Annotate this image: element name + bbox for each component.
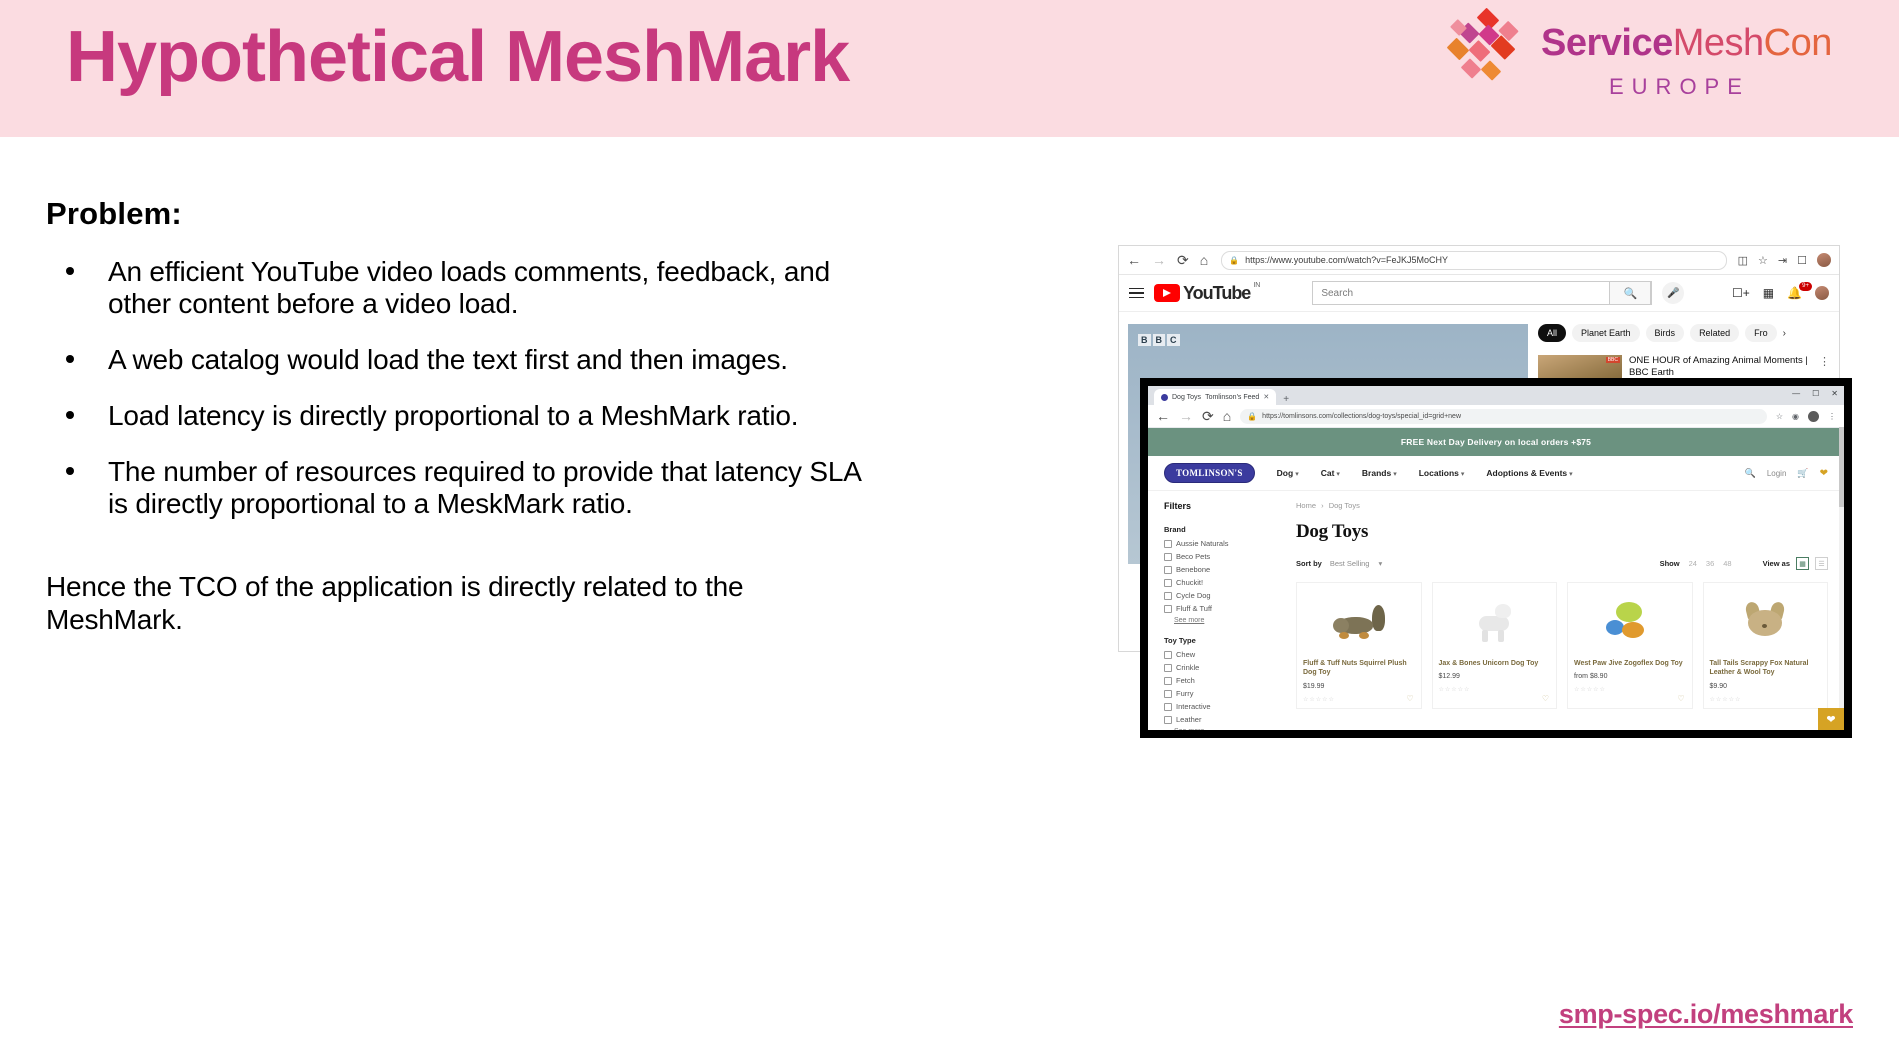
close-icon[interactable]: ✕ [1263, 393, 1269, 401]
bookmark-star-icon[interactable]: ☆ [1776, 412, 1783, 421]
list-item: Load latency is directly proportional to… [46, 400, 876, 432]
checkbox[interactable] [1164, 605, 1172, 613]
tomlinsons-browser-chrome: ← → ⟳ ⌂ 🔒 https://tomlinsons.com/collect… [1148, 405, 1844, 428]
tomlinsons-logo[interactable]: TOMLINSON'S [1164, 463, 1255, 483]
bbc-watermark-icon: B B C [1138, 334, 1180, 346]
floating-wishlist-button[interactable]: ❤ [1818, 708, 1844, 730]
product-card[interactable]: Jax & Bones Unicorn Dog Toy $12.99 ☆☆☆☆☆… [1432, 582, 1558, 709]
product-price: $9.90 [1710, 683, 1822, 690]
servicemeshcon-wordmark: ServiceMeshCon [1541, 22, 1832, 65]
show-label: Show [1660, 559, 1680, 568]
bullet-dot-icon [66, 411, 74, 419]
checkbox[interactable] [1164, 703, 1172, 711]
show-option-36[interactable]: 36 [1706, 559, 1714, 568]
favorite-icon[interactable]: ☆ [1758, 254, 1768, 267]
youtube-account-actions: ☐+ ▦ 🔔 9+ [1732, 286, 1829, 300]
product-image [1710, 589, 1822, 655]
search-icon[interactable]: 🔍 [1745, 468, 1756, 479]
cart-icon[interactable]: 🛒 [1797, 468, 1808, 479]
page-title: Hypothetical MeshMark [66, 18, 849, 97]
rating-stars-icon[interactable]: ☆☆☆☆☆ [1439, 686, 1551, 693]
youtube-chrome-toolbar: ◫ ☆ ⇥ ☐ [1738, 253, 1831, 267]
watermark-letter: C [1167, 334, 1180, 346]
checkbox[interactable] [1164, 579, 1172, 587]
search-icon[interactable]: 🔍 [1609, 281, 1651, 305]
youtube-address-bar[interactable]: 🔒 https://www.youtube.com/watch?v=FeJKJ5… [1221, 251, 1726, 270]
chevron-down-icon: ▾ [1295, 471, 1299, 478]
squirrel-plush-icon [1333, 605, 1385, 639]
product-image [1439, 589, 1551, 655]
lock-icon: 🔒 [1247, 412, 1257, 421]
scrollbar-thumb[interactable] [1839, 427, 1844, 507]
bullet-text: The number of resources required to prov… [108, 456, 860, 519]
youtube-logo[interactable]: YouTube IN [1154, 284, 1260, 302]
bullet-dot-icon [66, 267, 74, 275]
notification-count-badge: 9+ [1799, 282, 1812, 291]
product-image [1303, 589, 1415, 655]
checkbox[interactable] [1164, 690, 1172, 698]
see-more-brand-link[interactable]: See more [1174, 617, 1274, 624]
login-link[interactable]: Login [1767, 469, 1787, 478]
hamburger-menu-icon[interactable] [1129, 285, 1144, 302]
new-tab-icon[interactable]: + [1283, 394, 1289, 405]
youtube-region-tag: IN [1253, 282, 1260, 289]
product-price: $12.99 [1439, 673, 1551, 680]
wishlist-heart-icon[interactable]: ♡ [1542, 694, 1549, 703]
bullet-text: A web catalog would load the text first … [108, 344, 788, 375]
reload-icon[interactable]: ⟳ [1202, 409, 1214, 423]
breadcrumb-separator: › [1321, 501, 1324, 510]
catalog-page-title: Dog Toys [1296, 521, 1828, 543]
list-item: A web catalog would load the text first … [46, 344, 876, 376]
breadcrumb-home[interactable]: Home [1296, 501, 1316, 510]
youtube-avatar[interactable] [1815, 286, 1829, 300]
catalog-toolbar: Sort by Best Selling ▾ Show 24 36 48 Vie… [1296, 557, 1828, 570]
product-price: $19.99 [1303, 683, 1415, 690]
servicemeshcon-logo-mark [1451, 14, 1531, 94]
breadcrumb-current: Dog Toys [1329, 501, 1360, 510]
catalog-content: Home › Dog Toys Dog Toys Sort by Best Se… [1296, 501, 1828, 730]
problem-heading: Problem: [46, 196, 876, 232]
product-card[interactable]: Tall Tails Scrappy Fox Natural Leather &… [1703, 582, 1829, 709]
browser-tab-strip: Dog Toys Tomlinson's Feed ✕ + — ☐ ✕ [1148, 386, 1844, 405]
tomlinsons-viewport: Dog Toys Tomlinson's Feed ✕ + — ☐ ✕ ← → … [1148, 386, 1844, 730]
filter-label: Leather [1176, 715, 1201, 724]
filters-title: Filters [1164, 501, 1274, 511]
rating-stars-icon[interactable]: ☆☆☆☆☆ [1303, 696, 1415, 703]
filter-option[interactable]: Beco Pets [1164, 552, 1274, 561]
chip-all[interactable]: All [1538, 324, 1566, 342]
problem-bullet-list: An efficient YouTube video loads comment… [46, 256, 876, 519]
back-icon[interactable]: ← [1127, 253, 1141, 267]
logo-text-mesh: Mesh [1673, 22, 1764, 64]
nav-label: Dog [1277, 468, 1294, 478]
maximize-icon[interactable]: ☐ [1812, 389, 1819, 398]
filter-chip-row: All Planet Earth Birds Related Fro › [1538, 324, 1830, 342]
fox-plush-icon [1744, 602, 1786, 642]
product-name[interactable]: Tall Tails Scrappy Fox Natural Leather &… [1710, 659, 1822, 678]
thumbnail-tag: BBC [1606, 357, 1620, 363]
tab-title: Dog Toys [1172, 394, 1201, 401]
extension-icon[interactable]: ◉ [1792, 412, 1799, 421]
chevron-down-icon: ▾ [1569, 471, 1573, 478]
list-item: The number of resources required to prov… [46, 456, 876, 520]
wishlist-heart-icon[interactable]: ♡ [1406, 694, 1413, 703]
filter-label: Fluff & Tuff [1176, 604, 1212, 613]
minimize-icon[interactable]: — [1792, 389, 1800, 398]
home-icon[interactable]: ⌂ [1200, 253, 1208, 267]
youtube-wordmark: YouTube [1183, 284, 1250, 302]
chevron-down-icon: ▾ [1461, 471, 1465, 478]
bullet-dot-icon [66, 355, 74, 363]
checkbox[interactable] [1164, 677, 1172, 685]
chip-planet-earth[interactable]: Planet Earth [1572, 324, 1640, 342]
sort-by-label: Sort by [1296, 559, 1322, 568]
youtube-search-input[interactable]: Search 🔍 [1312, 281, 1652, 305]
nav-label: Cat [1321, 468, 1335, 478]
view-as-label: View as [1763, 559, 1790, 568]
product-image [1574, 589, 1686, 655]
apps-grid-icon[interactable]: ▦ [1763, 286, 1774, 300]
filter-option[interactable]: Crinkle [1164, 663, 1274, 672]
chip-related[interactable]: Related [1690, 324, 1739, 342]
chevron-down-icon[interactable]: ▾ [1378, 559, 1382, 568]
site-navigation: TOMLINSON'S Dog▾ Cat▾ Brands▾ Locations▾… [1148, 456, 1844, 491]
chevron-down-icon: ▾ [1393, 471, 1397, 478]
screenshot-composite: ← → ⟳ ⌂ 🔒 https://www.youtube.com/watch?… [1118, 245, 1858, 725]
nav-label: Adoptions & Events [1486, 468, 1567, 478]
window-controls: — ☐ ✕ [1792, 389, 1838, 398]
checkbox[interactable] [1164, 553, 1172, 561]
youtube-browser-chrome: ← → ⟳ ⌂ 🔒 https://www.youtube.com/watch?… [1119, 246, 1839, 275]
product-name[interactable]: Jax & Bones Unicorn Dog Toy [1439, 659, 1551, 668]
catalog-main: Filters Brand Aussie Naturals Beco Pets … [1148, 491, 1844, 730]
filter-option[interactable]: Cycle Dog [1164, 591, 1274, 600]
filter-label: Fetch [1176, 676, 1195, 685]
split-screen-icon[interactable]: ◫ [1738, 254, 1748, 267]
filter-label: Beco Pets [1176, 552, 1210, 561]
logo-text-service: Service [1541, 22, 1673, 64]
show-option-48[interactable]: 48 [1723, 559, 1731, 568]
product-grid: Fluff & Tuff Nuts Squirrel Plush Dog Toy… [1296, 582, 1828, 709]
nav-item-cat[interactable]: Cat▾ [1321, 468, 1340, 478]
browser-essentials-icon[interactable]: ☐ [1797, 254, 1807, 267]
forward-icon[interactable]: → [1179, 409, 1193, 423]
wishlist-heart-icon[interactable]: ♡ [1677, 694, 1684, 703]
search-placeholder: Search [1321, 288, 1353, 299]
nav-item-adoptions-events[interactable]: Adoptions & Events▾ [1486, 468, 1572, 478]
nav-label: Brands [1362, 468, 1391, 478]
filter-label: Cycle Dog [1176, 591, 1211, 600]
browser-tab[interactable]: Dog Toys Tomlinson's Feed ✕ [1154, 389, 1276, 405]
bullet-text: Load latency is directly proportional to… [108, 400, 798, 431]
profile-avatar[interactable] [1808, 411, 1819, 422]
nav-item-locations[interactable]: Locations▾ [1419, 468, 1465, 478]
filter-label: Chew [1176, 650, 1195, 659]
product-price: from $8.90 [1574, 673, 1686, 680]
lock-icon: 🔒 [1229, 256, 1239, 265]
collections-icon[interactable]: ⇥ [1778, 254, 1787, 267]
nav-item-dog[interactable]: Dog▾ [1277, 468, 1299, 478]
slide-body: Problem: An efficient YouTube video load… [46, 196, 876, 636]
filters-sidebar: Filters Brand Aussie Naturals Beco Pets … [1164, 501, 1274, 730]
reload-icon[interactable]: ⟳ [1177, 253, 1189, 267]
closing-paragraph: Hence the TCO of the application is dire… [46, 571, 806, 635]
nav-label: Locations [1419, 468, 1459, 478]
youtube-play-icon [1154, 284, 1180, 302]
tab-subtitle: Tomlinson's Feed [1205, 394, 1259, 401]
favicon-icon [1161, 394, 1168, 401]
wishlist-heart-icon[interactable]: ❤ [1820, 468, 1828, 479]
filter-label: Chuckit! [1176, 578, 1203, 587]
filter-option[interactable]: Leather [1164, 715, 1274, 724]
bullet-text: An efficient YouTube video loads comment… [108, 256, 830, 319]
chip-birds[interactable]: Birds [1646, 324, 1685, 342]
rating-stars-icon[interactable]: ☆☆☆☆☆ [1710, 696, 1822, 703]
checkbox[interactable] [1164, 651, 1172, 659]
filter-label: Aussie Naturals [1176, 539, 1229, 548]
view-as-group: View as ▦ ☰ [1763, 557, 1828, 570]
filter-group-title-brand: Brand [1164, 525, 1274, 534]
bullet-dot-icon [66, 467, 74, 475]
show-count-group: Show 24 36 48 View as ▦ ☰ [1660, 557, 1828, 570]
meshmark-spec-link[interactable]: smp-spec.io/meshmark [1559, 999, 1853, 1030]
video-title[interactable]: ONE HOUR of Amazing Animal Moments | BBC… [1629, 355, 1808, 380]
chrome-menu-icon[interactable]: ⋮ [1828, 412, 1836, 421]
nav-actions: 🔍 Login 🛒 ❤ [1745, 468, 1828, 479]
watermark-letter: B [1153, 334, 1166, 346]
logo-text-con: Con [1764, 22, 1832, 64]
rating-stars-icon[interactable]: ☆☆☆☆☆ [1574, 686, 1686, 693]
filter-option[interactable]: Chuckit! [1164, 578, 1274, 587]
list-item: An efficient YouTube video loads comment… [46, 256, 876, 320]
watermark-letter: B [1138, 334, 1151, 346]
filter-option[interactable]: Interactive [1164, 702, 1274, 711]
create-video-icon[interactable]: ☐+ [1732, 286, 1750, 300]
forward-icon[interactable]: → [1152, 253, 1166, 267]
list-view-icon[interactable]: ☰ [1815, 557, 1828, 570]
filter-label: Furry [1176, 689, 1194, 698]
filter-option[interactable]: Fluff & Tuff [1164, 604, 1274, 613]
nav-item-brands[interactable]: Brands▾ [1362, 468, 1397, 478]
checkbox[interactable] [1164, 664, 1172, 672]
filter-option[interactable]: Benebone [1164, 565, 1274, 574]
unicorn-plush-icon [1471, 602, 1517, 642]
tomlinsons-url-text: https://tomlinsons.com/collections/dog-t… [1262, 413, 1461, 420]
youtube-masthead: YouTube IN Search 🔍 🎤 ☐+ ▦ 🔔 9+ [1119, 275, 1839, 312]
grid-view-icon[interactable]: ▦ [1796, 557, 1809, 570]
show-option-24[interactable]: 24 [1689, 559, 1697, 568]
chevron-down-icon: ▾ [1336, 471, 1340, 478]
filter-option[interactable]: Chew [1164, 650, 1274, 659]
tomlinsons-browser-window: Dog Toys Tomlinson's Feed ✕ + — ☐ ✕ ← → … [1140, 378, 1852, 738]
chevron-right-icon[interactable]: › [1783, 328, 1786, 339]
zogoflex-toy-icon [1604, 602, 1656, 642]
filter-group-title-toy-type: Toy Type [1164, 636, 1274, 645]
filter-label: Benebone [1176, 565, 1210, 574]
filter-option[interactable]: Furry [1164, 689, 1274, 698]
scrollbar[interactable] [1839, 427, 1844, 730]
back-icon[interactable]: ← [1156, 409, 1170, 423]
product-name[interactable]: West Paw Jive Zogoflex Dog Toy [1574, 659, 1686, 668]
servicemeshcon-logo: ServiceMeshCon EUROPE [1441, 8, 1861, 120]
filter-option[interactable]: Fetch [1164, 676, 1274, 685]
logo-subtitle-europe: EUROPE [1609, 74, 1750, 100]
avatar[interactable] [1817, 253, 1831, 267]
checkbox[interactable] [1164, 540, 1172, 548]
checkbox[interactable] [1164, 566, 1172, 574]
tomlinsons-address-bar[interactable]: 🔒 https://tomlinsons.com/collections/dog… [1240, 409, 1767, 424]
product-card[interactable]: West Paw Jive Zogoflex Dog Toy from $8.9… [1567, 582, 1693, 709]
sort-by-value[interactable]: Best Selling [1330, 559, 1370, 568]
youtube-url-text: https://www.youtube.com/watch?v=FeJKJ5Mo… [1245, 255, 1448, 265]
home-icon[interactable]: ⌂ [1223, 409, 1231, 423]
filter-label: Crinkle [1176, 663, 1199, 672]
checkbox[interactable] [1164, 716, 1172, 724]
voice-search-icon[interactable]: 🎤 [1662, 282, 1684, 304]
filter-option[interactable]: Aussie Naturals [1164, 539, 1274, 548]
promo-banner: FREE Next Day Delivery on local orders +… [1148, 428, 1844, 456]
see-more-toytype-link[interactable]: See more [1174, 728, 1274, 730]
product-card[interactable]: Fluff & Tuff Nuts Squirrel Plush Dog Toy… [1296, 582, 1422, 709]
product-name[interactable]: Fluff & Tuff Nuts Squirrel Plush Dog Toy [1303, 659, 1415, 678]
close-window-icon[interactable]: ✕ [1831, 389, 1838, 398]
breadcrumb: Home › Dog Toys [1296, 501, 1828, 510]
checkbox[interactable] [1164, 592, 1172, 600]
filter-label: Interactive [1176, 702, 1211, 711]
chip-from[interactable]: Fro [1745, 324, 1777, 342]
tomlinsons-chrome-toolbar: ☆ ◉ ⋮ [1776, 411, 1836, 422]
